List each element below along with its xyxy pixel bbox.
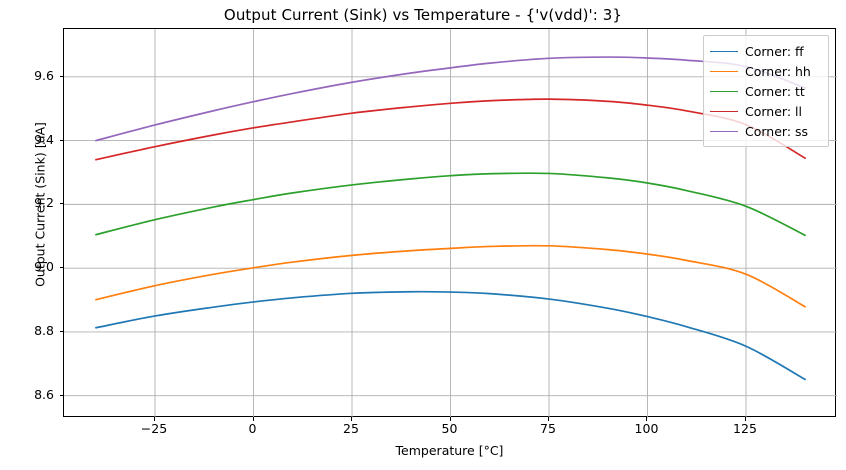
y-tick-mark <box>60 331 64 332</box>
x-tick-mark <box>253 417 254 421</box>
matplotlib-figure: Output Current (Sink) vs Temperature - {… <box>0 0 846 470</box>
legend-color-swatch <box>710 71 738 72</box>
legend-label: Corner: hh <box>745 64 811 79</box>
x-tick-mark <box>745 417 746 421</box>
series-line-corner-hh <box>96 246 805 307</box>
y-tick-label: 9.2 <box>8 195 54 210</box>
legend-label: Corner: ss <box>745 124 808 139</box>
x-tick-label: 125 <box>720 421 770 436</box>
x-tick-mark <box>548 417 549 421</box>
y-tick-label: 8.6 <box>8 387 54 402</box>
x-tick-label: 100 <box>621 421 671 436</box>
legend-label: Corner: ff <box>745 44 804 59</box>
series-line-corner-ll <box>96 99 805 160</box>
x-tick-mark <box>646 417 647 421</box>
y-tick-label: 9.6 <box>8 68 54 83</box>
x-tick-label: 75 <box>523 421 573 436</box>
y-tick-mark <box>60 267 64 268</box>
x-tick-mark <box>154 417 155 421</box>
legend-color-swatch <box>710 91 738 92</box>
x-tick-label: 50 <box>425 421 475 436</box>
legend-label: Corner: tt <box>745 84 805 99</box>
series-line-corner-ss <box>96 57 805 141</box>
legend-item: Corner: tt <box>710 81 822 101</box>
x-tick-mark <box>450 417 451 421</box>
y-tick-mark <box>60 76 64 77</box>
legend-color-swatch <box>710 131 738 132</box>
y-tick-label: 9.0 <box>8 259 54 274</box>
chart-legend: Corner: ffCorner: hhCorner: ttCorner: ll… <box>703 35 829 147</box>
x-tick-label: −25 <box>129 421 179 436</box>
chart-title: Output Current (Sink) vs Temperature - {… <box>0 6 846 24</box>
legend-label: Corner: ll <box>745 104 802 119</box>
legend-item: Corner: ss <box>710 121 822 141</box>
x-tick-mark <box>351 417 352 421</box>
series-line-corner-tt <box>96 173 805 235</box>
y-tick-mark <box>60 203 64 204</box>
x-axis-label: Temperature [°C] <box>63 443 836 458</box>
series-line-corner-ff <box>96 292 805 380</box>
x-tick-label: 25 <box>326 421 376 436</box>
legend-color-swatch <box>710 51 738 52</box>
x-tick-label: 0 <box>228 421 278 436</box>
y-tick-mark <box>60 395 64 396</box>
legend-color-swatch <box>710 111 738 112</box>
legend-item: Corner: ll <box>710 101 822 121</box>
legend-item: Corner: hh <box>710 61 822 81</box>
y-tick-label: 9.4 <box>8 132 54 147</box>
y-tick-label: 8.8 <box>8 323 54 338</box>
legend-item: Corner: ff <box>710 41 822 61</box>
y-tick-mark <box>60 140 64 141</box>
